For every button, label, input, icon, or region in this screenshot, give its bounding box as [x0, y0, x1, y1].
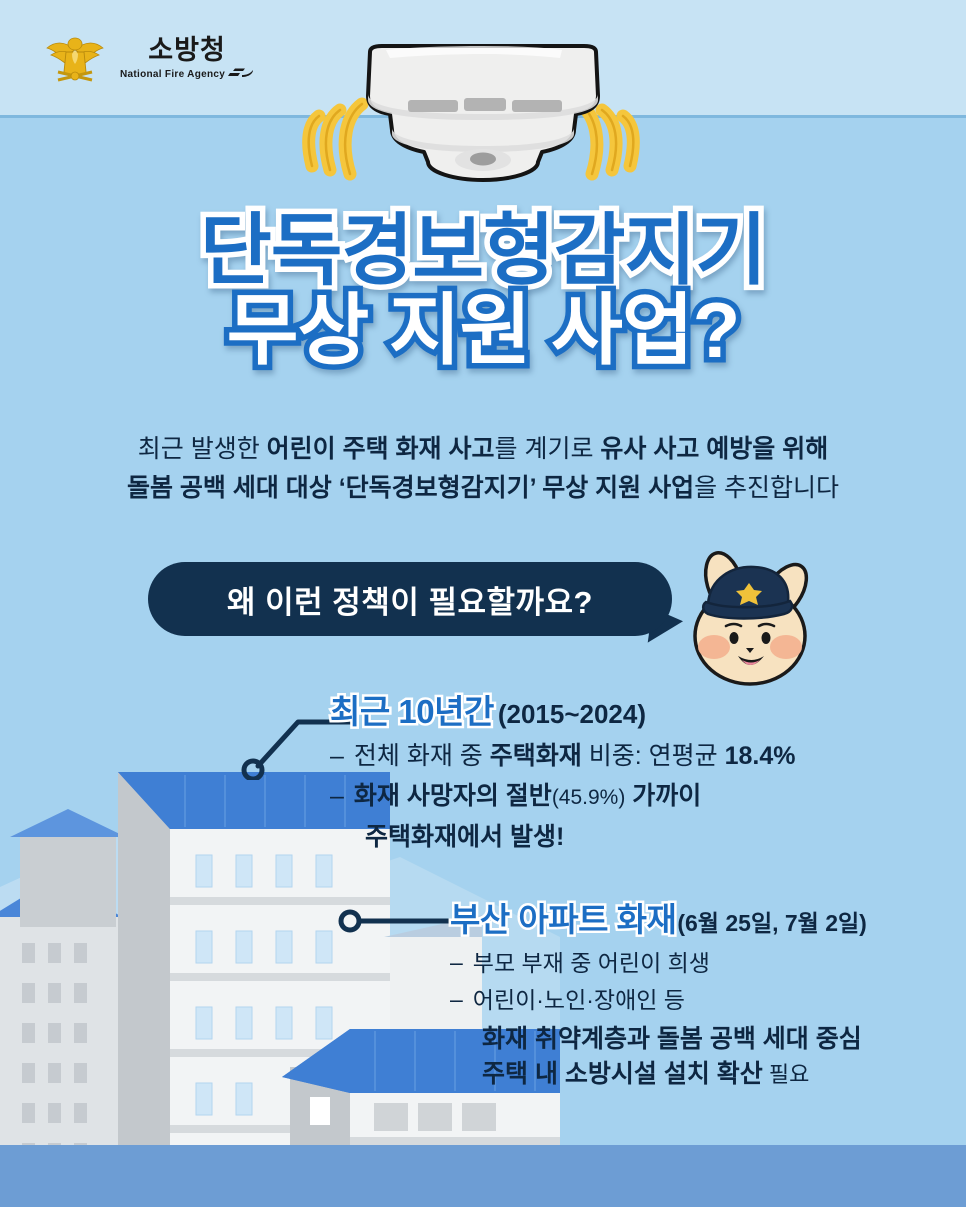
bullet-part-bold: 18.4%: [725, 742, 796, 770]
fact-2-heading: 부산 아파트 화재(6월 25일, 7월 2일): [450, 902, 930, 938]
fact-2-bullet-2: – 어린이·노인·장애인 등: [450, 985, 930, 1016]
bullet-text: 부모 부재 중 어린이 희생: [473, 948, 710, 979]
swoosh-icon: [228, 68, 254, 82]
bullet-dash: –: [450, 985, 463, 1015]
bullet-text: 전체 화재 중 주택화재 비중: 연평균 18.4%: [354, 740, 796, 774]
smoke-detector-icon: [352, 44, 614, 184]
fact-1-heading: 최근 10년간(2015~2024): [330, 694, 930, 730]
subtitle-l1-part-a: 최근 발생한: [138, 435, 267, 463]
fact-2-heading-highlight: 부산 아파트 화재: [450, 901, 676, 938]
speech-bubble: 왜 이런 정책이 필요할까요?: [148, 562, 672, 636]
bullet-text: 화재 사망자의 절반(45.9%) 가까이: [354, 780, 701, 814]
fact-2-continuation-2-bold: 주택 내 소방시설 설치 확산: [482, 1060, 763, 1088]
subtitle-line-1: 최근 발생한 어린이 주택 화재 사고를 계기로 유사 사고 예방을 위해: [0, 430, 966, 469]
agency-name-en: National Fire Agency: [120, 69, 225, 80]
subtitle-l1-part-c: 를 계기로: [495, 435, 601, 463]
fact-block-2: 부산 아파트 화재(6월 25일, 7월 2일) – 부모 부재 중 어린이 희…: [450, 902, 930, 1092]
bullet-part: 비중: 연평균: [582, 742, 725, 770]
bullet-dash: –: [450, 948, 463, 978]
subtitle-l1-part-d: 유사 사고 예방을 위해: [600, 435, 828, 463]
bullet-part-bold: 화재 사망자의 절반: [354, 782, 552, 810]
subtitle-l2-part-a: 돌봄 공백 세대 대상 ‘단독경보형감지기’ 무상 지원 사업: [127, 474, 694, 502]
ground-band: [0, 1145, 966, 1207]
agency-logo: 소방청 National Fire Agency: [44, 28, 254, 90]
poster-title: 단독경보형감지기 무상 지원 사업?: [0, 212, 966, 369]
fact-2-bullet-1: – 부모 부재 중 어린이 희생: [450, 948, 930, 979]
fact-2-continuation-2: 주택 내 소방시설 설치 확산 필요: [482, 1057, 930, 1092]
fact-1-heading-highlight: 최근 10년간: [330, 693, 494, 730]
bullet-part-bold: 주택화재: [490, 742, 582, 770]
agency-name-ko: 소방청: [148, 36, 226, 64]
fact-block-1: 최근 10년간(2015~2024) – 전체 화재 중 주택화재 비중: 연평…: [330, 694, 930, 855]
fire-agency-emblem-icon: [44, 28, 106, 90]
bullet-dash: –: [330, 780, 344, 813]
title-line-1: 단독경보형감지기: [0, 212, 966, 288]
fact-1-bullets: – 전체 화재 중 주택화재 비중: 연평균 18.4% – 화재 사망자의 절…: [330, 740, 930, 855]
speech-bubble-text: 왜 이런 정책이 필요할까요?: [227, 577, 593, 622]
subtitle-line-2: 돌봄 공백 세대 대상 ‘단독경보형감지기’ 무상 지원 사업을 추진합니다: [0, 469, 966, 508]
bullet-dash: –: [330, 740, 344, 773]
agency-name-en-wrap: National Fire Agency: [120, 68, 254, 82]
subtitle-block: 최근 발생한 어린이 주택 화재 사고를 계기로 유사 사고 예방을 위해 돌봄…: [0, 430, 966, 508]
rabbit-firefighter-mascot-icon: [672, 548, 828, 694]
fact-2-heading-sub: (6월 25일, 7월 2일): [677, 910, 866, 936]
fact-1-heading-sub: (2015~2024): [498, 699, 646, 729]
subtitle-l1-part-b: 어린이 주택 화재 사고: [267, 435, 495, 463]
subtitle-l2-part-b: 을 추진합니다: [694, 474, 839, 502]
fact-1-bullet-2-continuation: 주택화재에서 발생!: [365, 820, 930, 855]
fact-1-bullet-1: – 전체 화재 중 주택화재 비중: 연평균 18.4%: [330, 740, 930, 774]
bullet-text: 어린이·노인·장애인 등: [473, 985, 685, 1016]
fact-2-continuation-1: 화재 취약계층과 돌봄 공백 세대 중심: [482, 1022, 930, 1057]
fact-2-bullets: – 부모 부재 중 어린이 희생 – 어린이·노인·장애인 등 화재 취약계층과…: [450, 948, 930, 1092]
title-line-2: 무상 지원 사업?: [0, 292, 966, 368]
bullet-part: 전체 화재 중: [354, 742, 490, 770]
poster-root: 소방청 National Fire Agency: [0, 0, 966, 1207]
bullet-part-small: (45.9%): [552, 786, 626, 809]
fact-2-continuation-2-normal: 필요: [763, 1062, 810, 1087]
fact-1-bullet-2: – 화재 사망자의 절반(45.9%) 가까이: [330, 780, 930, 814]
bullet-part-bold: 가까이: [625, 782, 701, 810]
connector-line-2: [338, 906, 458, 941]
